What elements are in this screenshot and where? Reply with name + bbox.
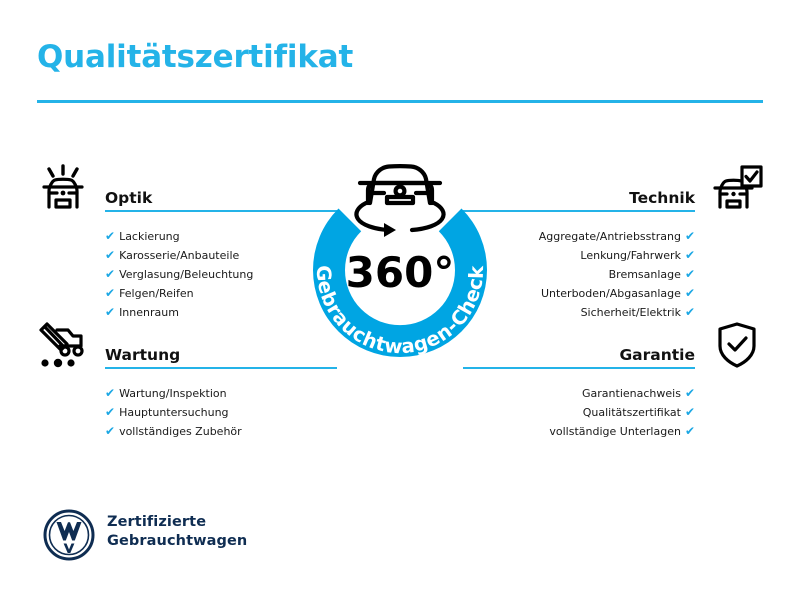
- check-icon: ✔: [105, 229, 115, 243]
- list-item-label: vollständige Unterlagen: [549, 425, 681, 438]
- check-icon: ✔: [685, 229, 695, 243]
- list-item: Garantienachweis✔: [463, 384, 695, 403]
- list-item-label: Karosserie/Anbauteile: [119, 249, 239, 262]
- list-item-label: Lackierung: [119, 230, 180, 243]
- list-item-label: Innenraum: [119, 306, 179, 319]
- check-icon: ✔: [105, 386, 115, 400]
- list-item-label: Aggregate/Antriebsstrang: [539, 230, 681, 243]
- section-list: Garantienachweis✔ Qualitätszertifikat✔ v…: [463, 384, 763, 441]
- car-checkbox-icon: [711, 163, 763, 213]
- section-list: ✔Wartung/Inspektion ✔Hauptuntersuchung ✔…: [37, 384, 337, 441]
- list-item-label: Bremsanlage: [609, 268, 681, 281]
- shield-check-icon: [711, 320, 763, 370]
- check-icon: ✔: [105, 424, 115, 438]
- list-item-label: Lenkung/Fahrwerk: [580, 249, 681, 262]
- check-icon: ✔: [685, 386, 695, 400]
- list-item-label: Hauptuntersuchung: [119, 406, 228, 419]
- list-item: ✔vollständiges Zubehör: [105, 422, 337, 441]
- check-icon: ✔: [685, 248, 695, 262]
- car-shine-icon: [37, 163, 89, 213]
- footer-text: Zertifizierte Gebrauchtwagen: [107, 513, 247, 551]
- check-icon: ✔: [685, 424, 695, 438]
- check-icon: ✔: [685, 286, 695, 300]
- car-service-icon: [37, 320, 89, 370]
- list-item-label: Verglasung/Beleuchtung: [119, 268, 253, 281]
- section-title: Optik: [105, 189, 152, 207]
- list-item-label: Garantienachweis: [582, 387, 681, 400]
- check-icon: ✔: [105, 286, 115, 300]
- footer-line-2: Gebrauchtwagen: [107, 532, 247, 551]
- page-title: Qualitätszertifikat: [37, 40, 353, 74]
- badge-center-label: 360°: [346, 248, 455, 297]
- list-item: ✔Hauptuntersuchung: [105, 403, 337, 422]
- list-item-label: Sicherheit/Elektrik: [581, 306, 681, 319]
- check-icon: ✔: [105, 305, 115, 319]
- title-divider: [37, 100, 763, 103]
- section-title: Wartung: [105, 346, 180, 364]
- check-icon: ✔: [105, 267, 115, 281]
- list-item-label: Felgen/Reifen: [119, 287, 194, 300]
- check-icon: ✔: [105, 248, 115, 262]
- section-title: Technik: [629, 189, 695, 207]
- section-title: Garantie: [619, 346, 695, 364]
- car-rotate-icon: [356, 166, 443, 237]
- footer-line-1: Zertifizierte: [107, 513, 247, 532]
- check-icon: ✔: [685, 267, 695, 281]
- gebrauchtwagen-check-badge: Gebrauchtwagen-Check 360°: [288, 145, 512, 380]
- list-item: vollständige Unterlagen✔: [463, 422, 695, 441]
- list-item-label: Wartung/Inspektion: [119, 387, 227, 400]
- check-icon: ✔: [685, 405, 695, 419]
- check-icon: ✔: [105, 405, 115, 419]
- vw-logo-icon: [42, 508, 96, 562]
- check-icon: ✔: [685, 305, 695, 319]
- list-item-label: Qualitätszertifikat: [583, 406, 681, 419]
- list-item-label: Unterboden/Abgasanlage: [541, 287, 681, 300]
- list-item-label: vollständiges Zubehör: [119, 425, 242, 438]
- rotation-arrow-icon: [384, 223, 396, 237]
- list-item: ✔Wartung/Inspektion: [105, 384, 337, 403]
- list-item: Qualitätszertifikat✔: [463, 403, 695, 422]
